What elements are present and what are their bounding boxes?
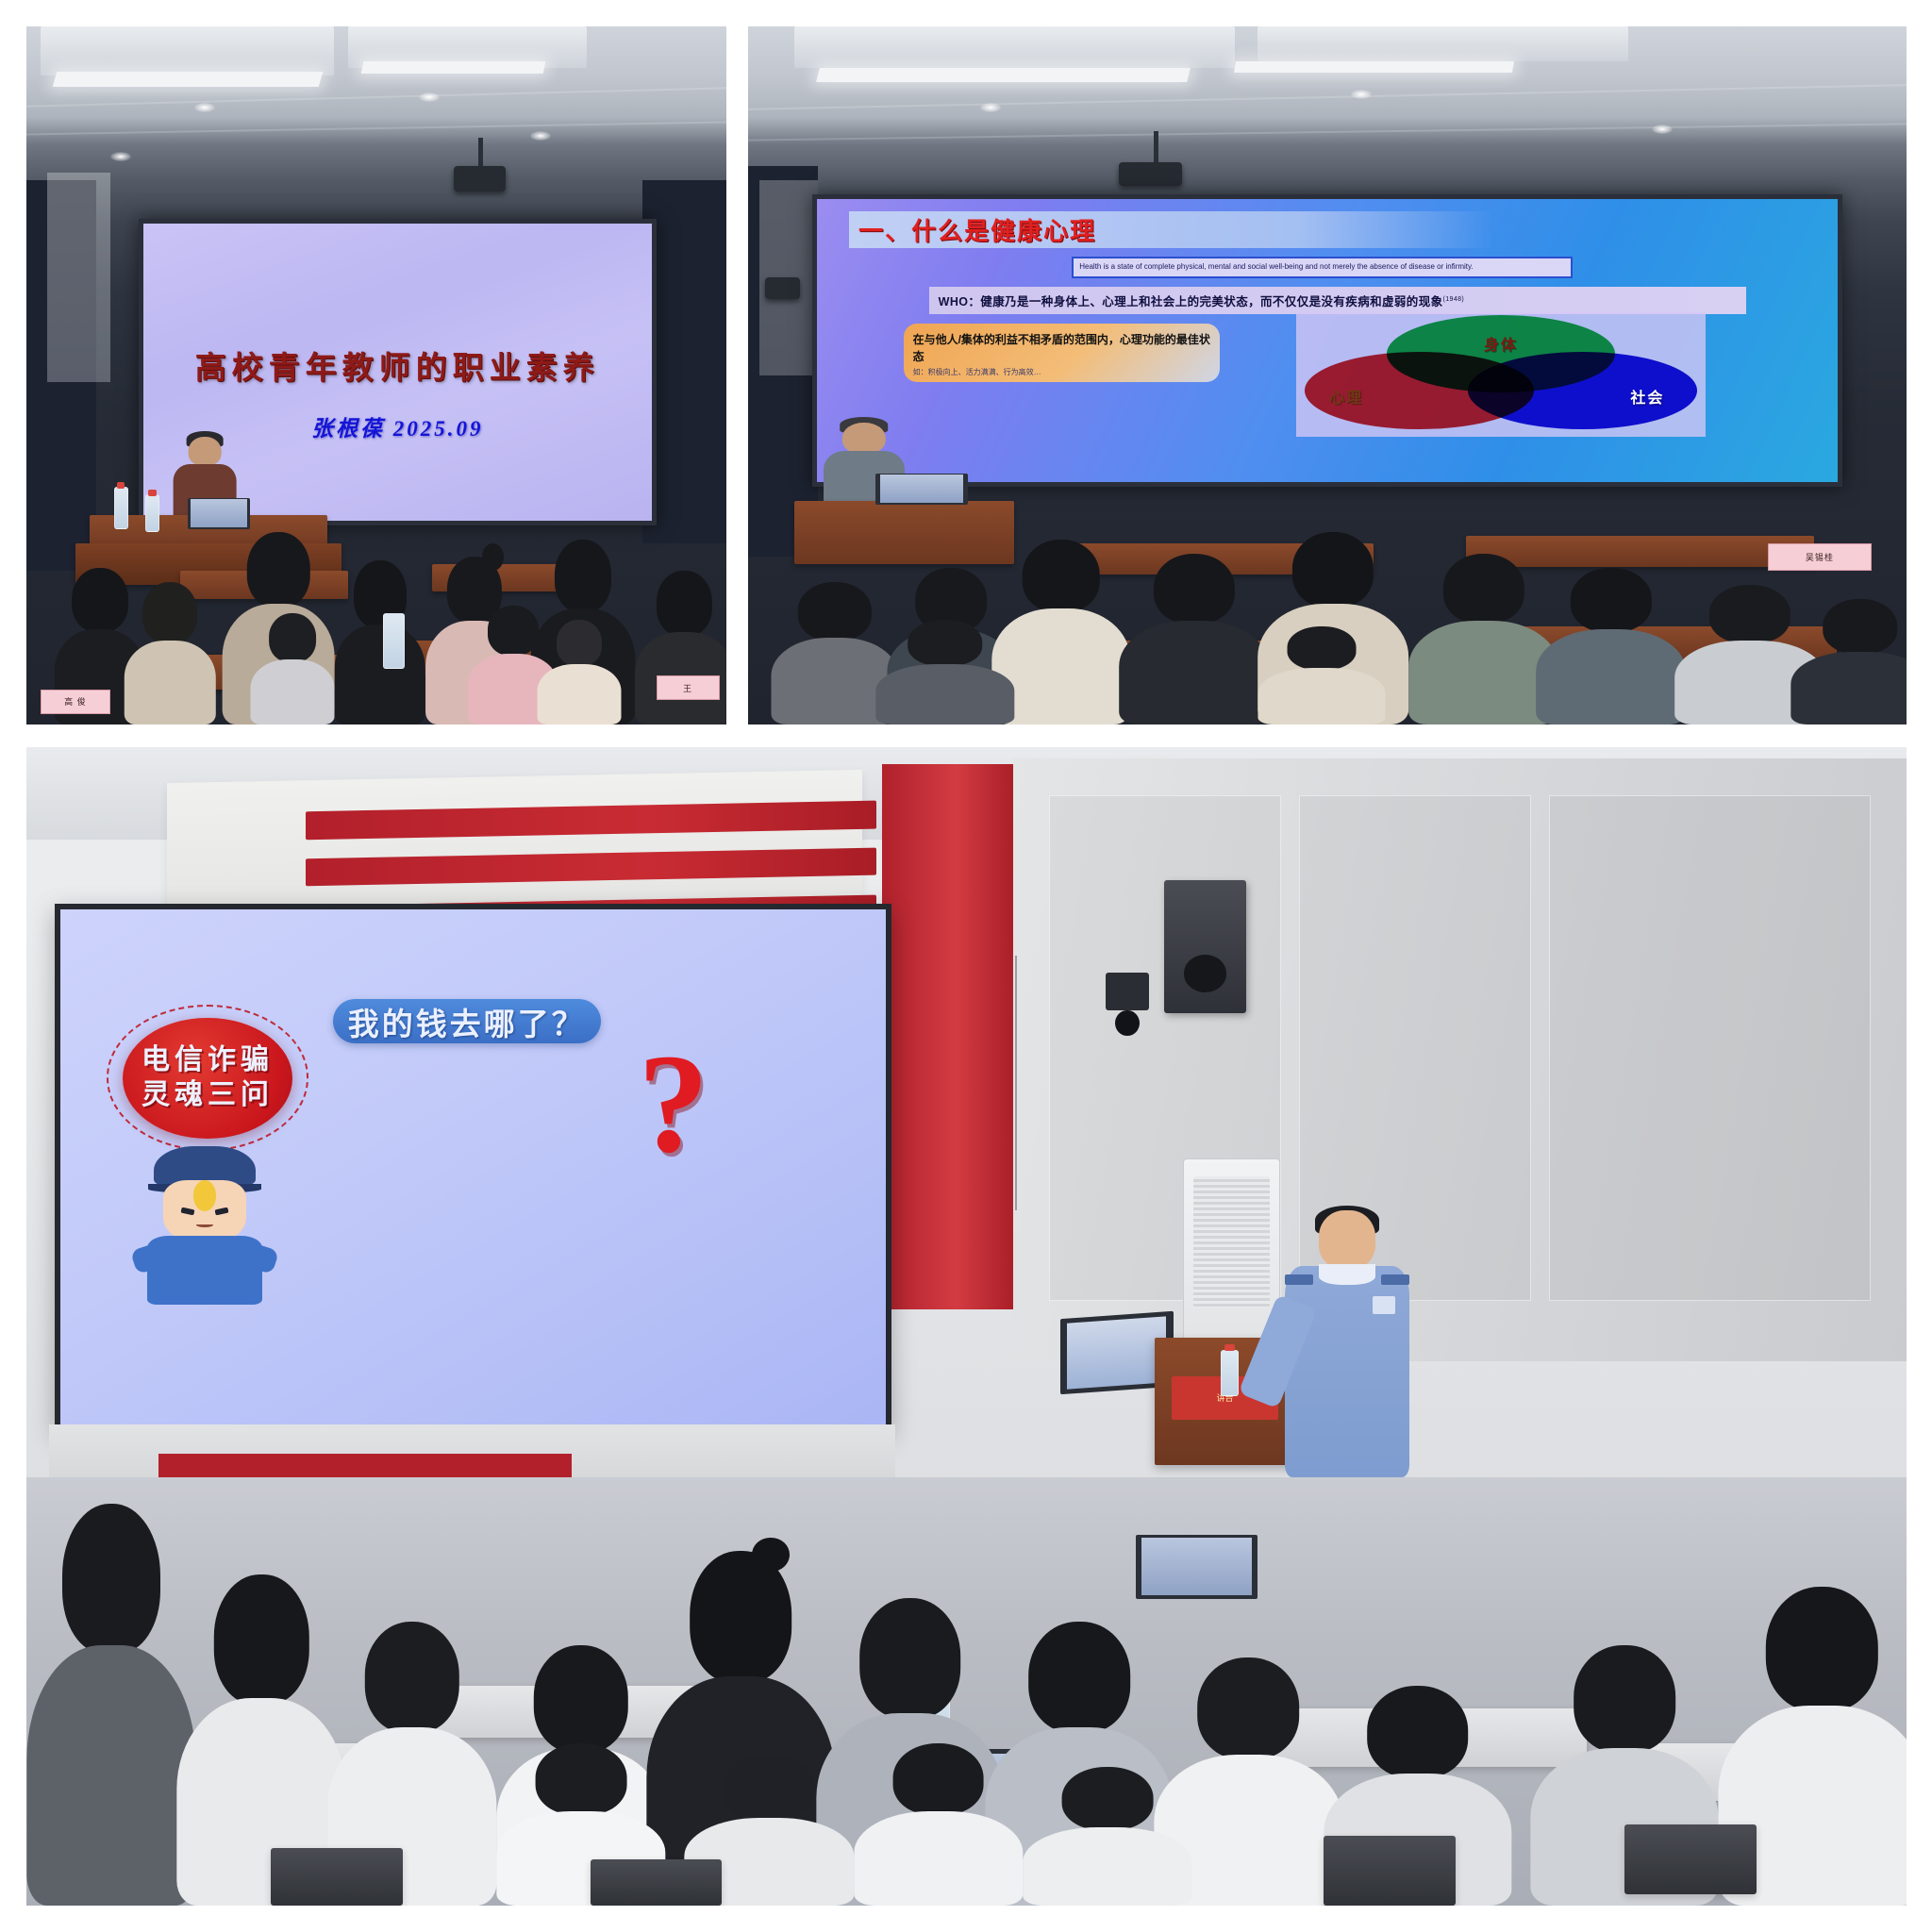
person-torso [1119, 621, 1270, 724]
person-head [214, 1574, 308, 1705]
person-torso [1790, 652, 1907, 724]
person-torso [334, 625, 425, 724]
person-head [488, 606, 539, 656]
podium-laptop-screen [1067, 1316, 1166, 1390]
person-head [657, 571, 711, 635]
person-torso [1023, 1827, 1191, 1906]
water-bottle [1221, 1350, 1240, 1396]
ceiling-downlight [1652, 125, 1673, 134]
slide3-title-text: 我的钱去哪了？ [348, 999, 586, 1044]
camera-lens [1115, 1010, 1140, 1036]
chair-back [1324, 1836, 1456, 1906]
ceiling-cable [1015, 956, 1017, 1210]
audience-person [1790, 599, 1907, 724]
person-head [908, 620, 983, 666]
audience-person [1536, 571, 1687, 724]
right-wall [1013, 758, 1907, 1361]
wall-stripe [307, 847, 877, 886]
slide2-english-quote: Health is a state of complete physical, … [1072, 257, 1573, 278]
person-head [724, 1755, 815, 1821]
hair-bun [482, 543, 504, 570]
audience-person [125, 585, 215, 724]
person-head [557, 620, 602, 666]
slide2-who-line: WHO：健康乃是一种身体上、心理上和社会上的完美状态，而不仅仅是没有疾病和虚弱的… [929, 287, 1746, 314]
chair-back [271, 1848, 403, 1906]
audience-person [250, 613, 334, 724]
slide1-title: 高校青年教师的职业素养 [143, 342, 652, 388]
person-head [1574, 1645, 1675, 1752]
water-bottle [145, 494, 159, 533]
slide2-heading: 一、什么是健康心理 [849, 211, 1492, 248]
person-head [892, 1743, 984, 1815]
person-torso [250, 659, 334, 724]
cartoon-mouth [196, 1223, 213, 1227]
projector-mount [1154, 131, 1158, 166]
speaker-cone [1184, 955, 1227, 992]
person-torso [125, 641, 215, 724]
photo-collage: 高校青年教师的职业素养 张根葆 2025.09 [0, 0, 1932, 1932]
projector [454, 166, 507, 192]
fraud-badge: 电信诈骗 灵魂三问 [123, 1018, 291, 1139]
person-head [536, 1743, 627, 1815]
audience-person [1023, 1767, 1191, 1906]
slide2-heading-text: 一、什么是健康心理 [858, 212, 1096, 247]
officer-epaulet-left [1285, 1274, 1313, 1285]
security-camera [1106, 973, 1149, 1009]
hair-bun [752, 1538, 790, 1573]
officer-epaulet-right [1381, 1274, 1409, 1285]
nameplate-text: 王 [683, 682, 692, 694]
ceiling-panel [794, 26, 1235, 68]
photo-top-left: 高校青年教师的职业素养 张根葆 2025.09 [26, 26, 726, 724]
ceiling-panel [1257, 26, 1628, 61]
person-head [1287, 626, 1356, 670]
person-head [1022, 540, 1100, 612]
officer-badge-icon [1373, 1296, 1395, 1315]
person-head [1443, 554, 1524, 625]
ceiling-downlight [1351, 90, 1372, 99]
person-head [1709, 585, 1790, 643]
wall-panel-left [47, 173, 110, 382]
bubble-main-text: 在与他人/集体的利益不相矛盾的范围内，心理功能的最佳状态 [913, 333, 1210, 363]
person-torso [26, 1645, 195, 1906]
lecturer-podium [794, 501, 1014, 564]
lecturer-laptop[interactable] [875, 474, 968, 505]
audience-person [875, 620, 1014, 724]
cartoon-eye-right [214, 1207, 228, 1215]
wall-speaker [1164, 880, 1247, 1013]
person-head [1154, 554, 1235, 625]
water-bottle [383, 613, 404, 669]
nameplate-text: 吴锡桂 [1806, 551, 1834, 563]
audience-person [1257, 626, 1385, 724]
question-mark-icon: ? [638, 1033, 708, 1174]
chair-back [1624, 1824, 1757, 1894]
cartoon-eye-left [181, 1207, 195, 1215]
ac-grill [1193, 1176, 1270, 1307]
lecturer-head [842, 423, 886, 454]
ceiling-light-strip [52, 72, 323, 87]
person-torso [875, 664, 1014, 724]
person-head [1028, 1622, 1130, 1733]
slide-2: 一、什么是健康心理 Health is a state of complete … [817, 199, 1839, 483]
person-torso [1536, 629, 1687, 724]
ceiling-light-strip [816, 68, 1191, 82]
laptop-screen [191, 499, 247, 527]
officer-collar [1319, 1264, 1375, 1286]
badge-line-1: 电信诈骗 [142, 1043, 274, 1078]
person-torso [1257, 668, 1385, 724]
person-head [534, 1645, 628, 1752]
ceiling-light-strip [361, 61, 546, 74]
slide-3: 电信诈骗 灵魂三问 我的钱去哪了？ ? [60, 909, 886, 1425]
bottle-cap [148, 490, 156, 495]
person-torso [854, 1811, 1023, 1906]
person-torso [538, 664, 622, 724]
person-head [62, 1504, 160, 1654]
venn-label-body: 身体 [1296, 332, 1705, 355]
venn-diagram: 身体 心理 社会 [1296, 312, 1705, 437]
wall-stripe [307, 800, 877, 839]
projection-screen-3: 电信诈骗 灵魂三问 我的钱去哪了？ ? [55, 904, 891, 1431]
ceiling-light-strip [1234, 61, 1514, 73]
bottle-cap [117, 482, 125, 489]
photo-top-right: 一、什么是健康心理 Health is a state of complete … [748, 26, 1907, 724]
audience-person [26, 1511, 195, 1906]
projector [1119, 162, 1183, 186]
who-text: WHO：健康乃是一种身体上、心理上和社会上的完美状态，而不仅仅是没有疾病和虚弱的… [939, 295, 1443, 308]
bubble-small-text: 如：积极向上、活力满满、行为高效… [913, 367, 1211, 378]
person-head [1062, 1767, 1154, 1831]
red-column [882, 764, 1017, 1308]
laptop-screen [1141, 1538, 1252, 1595]
person-head [1367, 1686, 1469, 1778]
person-head [1292, 532, 1374, 608]
cartoon-police-officer [147, 1146, 262, 1301]
audience-laptop[interactable] [1136, 1535, 1258, 1599]
lecturer-head [189, 437, 222, 466]
person-head [72, 568, 128, 632]
audience-person [334, 564, 425, 724]
nameplate-text: 高 俊 [64, 695, 87, 708]
audience-person [538, 620, 622, 724]
person-head [247, 532, 309, 608]
venn-label-psychology: 心理 [1329, 385, 1363, 408]
wall-panel [1549, 795, 1871, 1301]
person-head [1571, 568, 1652, 632]
lecturer-laptop[interactable] [188, 498, 251, 529]
police-officer-speaker [1276, 1210, 1417, 1476]
officer-head [1319, 1210, 1375, 1269]
laptop-screen [880, 475, 963, 503]
person-head [859, 1598, 961, 1719]
wall-camera [765, 277, 800, 298]
person-head [1766, 1587, 1877, 1712]
venn-label-society: 社会 [1630, 385, 1664, 408]
badge-line-2: 灵魂三问 [142, 1078, 274, 1113]
venn-circles: 身体 心理 社会 [1296, 312, 1705, 437]
cap-badge-icon [193, 1180, 216, 1211]
chair-back [591, 1859, 723, 1906]
slide3-title-pill: 我的钱去哪了？ [333, 999, 601, 1043]
person-head [142, 582, 197, 643]
ceiling-panel [41, 26, 335, 75]
projection-screen-2: 一、什么是健康心理 Health is a state of complete … [812, 194, 1843, 488]
slide2-speech-bubble: 在与他人/集体的利益不相矛盾的范围内，心理功能的最佳状态 如：积极向上、活力满满… [904, 324, 1221, 382]
person-head [364, 1622, 458, 1733]
who-year: (1948) [1443, 296, 1465, 303]
person-head [798, 582, 872, 641]
audience-person [854, 1743, 1023, 1906]
person-head [555, 540, 611, 612]
nameplate: 吴锡桂 [1768, 543, 1873, 572]
audience-person [636, 571, 726, 724]
audience-person [1119, 557, 1270, 724]
person-head [1198, 1657, 1300, 1759]
water-bottle [114, 487, 128, 528]
bottle-cap [1224, 1344, 1235, 1352]
nameplate: 高 俊 [41, 690, 110, 714]
nameplate: 王 [657, 675, 720, 700]
person-head [269, 613, 316, 662]
person-head [1823, 599, 1898, 655]
photo-bottom: 电信诈骗 灵魂三问 我的钱去哪了？ ? [26, 747, 1907, 1906]
